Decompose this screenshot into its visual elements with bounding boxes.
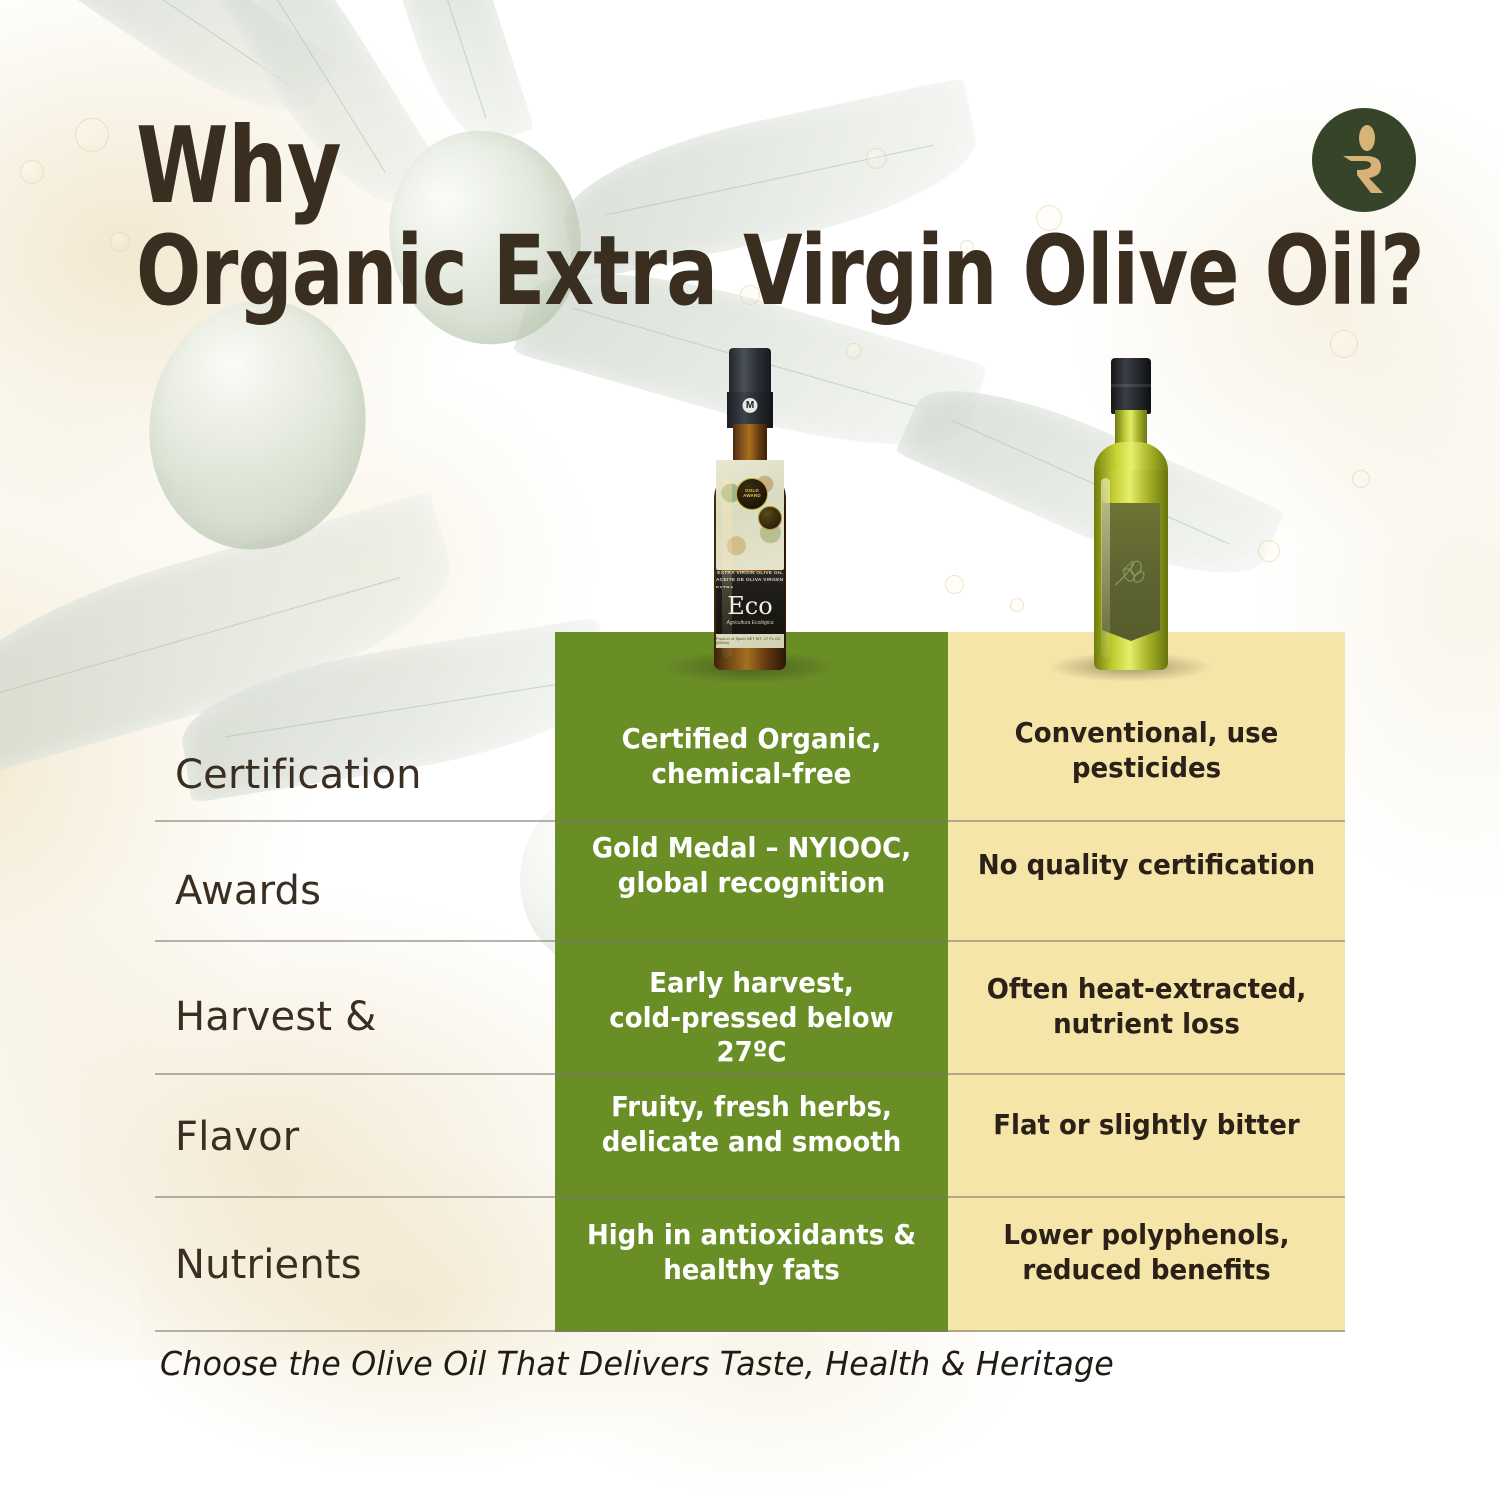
cell-conventional-value: No quality certification (969, 848, 1323, 883)
row-label: Awards (175, 868, 545, 914)
cell-organic-value: Certified Organic, chemical-free (576, 722, 927, 791)
table-row: Awards Gold Medal – NYIOOC, global recog… (0, 838, 1500, 898)
row-divider (155, 940, 1345, 942)
cell-organic-value: Fruity, fresh herbs, delicate and smooth (576, 1090, 927, 1159)
row-divider (155, 1073, 1345, 1075)
secondary-seal-icon (758, 506, 782, 530)
cell-conventional-value: Lower polyphenols, reduced benefits (969, 1218, 1323, 1287)
eco-word: Eco (727, 596, 772, 618)
row-label: Flavor (175, 1114, 545, 1160)
cell-conventional-value: Often heat-extracted, nutrient loss (969, 972, 1323, 1041)
row-divider (155, 820, 1345, 822)
table-row: Certification Certified Organic, chemica… (0, 726, 1500, 786)
bottle-cap-logo: M (743, 398, 758, 413)
olive-branch-icon (1112, 555, 1150, 589)
row-divider (155, 1330, 1345, 1332)
bottle-cap (1111, 358, 1151, 414)
eco-subtitle: Agricultura Ecológica (727, 620, 774, 626)
cell-conventional-value: Flat or slightly bitter (969, 1108, 1323, 1143)
table-row: Harvest & Early harvest, cold-pressed be… (0, 966, 1500, 1026)
footer-tagline: Choose the Olive Oil That Delivers Taste… (160, 1344, 1114, 1383)
bottle-cap (729, 348, 771, 396)
row-divider (155, 1196, 1345, 1198)
cell-organic-value: Gold Medal – NYIOOC, global recognition (576, 831, 927, 900)
table-row: Nutrients High in antioxidants & healthy… (0, 1218, 1500, 1278)
organic-olive-oil-bottle: M GOLD AWARD EXTRA VIRGIN OLIVE OIL ACEI… (700, 348, 800, 670)
row-label: Certification (175, 752, 545, 798)
bottle-cap-band: M (727, 392, 773, 428)
infographic-canvas: Why Organic Extra Virgin Olive Oil? Cert… (0, 0, 1500, 1500)
bottle-glass-highlight (722, 478, 732, 658)
gold-award-seal: GOLD AWARD (736, 478, 768, 510)
conventional-olive-oil-bottle (1082, 358, 1180, 670)
row-label: Harvest & (175, 994, 545, 1040)
cell-organic-value: High in antioxidants & healthy fats (576, 1218, 927, 1287)
bottle-label (1102, 503, 1160, 641)
table-row: Flavor Fruity, fresh herbs, delicate and… (0, 1092, 1500, 1152)
row-label: Nutrients (175, 1242, 545, 1288)
bottle-glass-highlight (1101, 478, 1110, 658)
cell-conventional-value: Conventional, use pesticides (969, 716, 1323, 785)
comparison-table: Certification Certified Organic, chemica… (0, 0, 1500, 1500)
cell-organic-value: Early harvest, cold-pressed below 27ºC (576, 966, 927, 1070)
